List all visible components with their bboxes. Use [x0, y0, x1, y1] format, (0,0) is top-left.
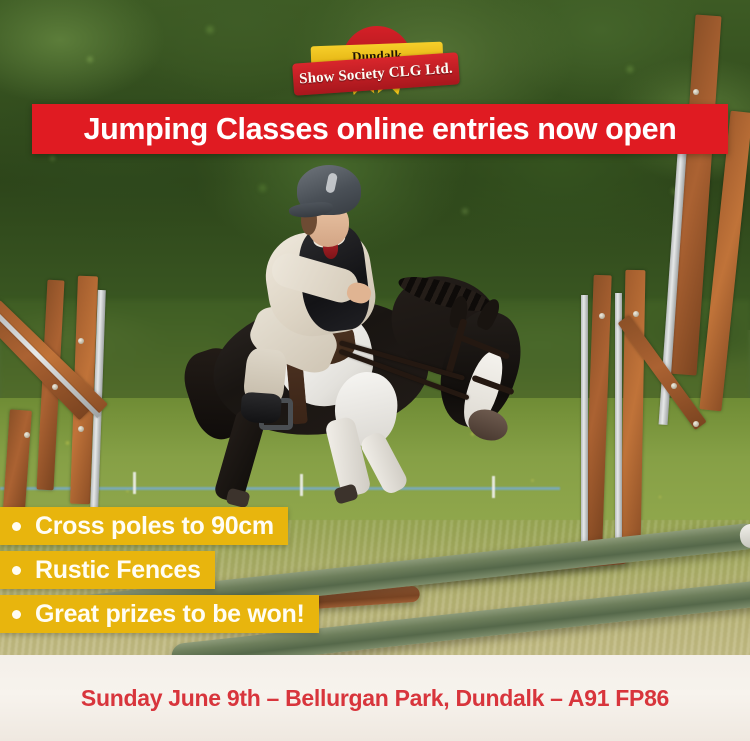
bullet-dot-icon	[12, 610, 21, 619]
headline-text: Jumping Classes online entries now open	[84, 112, 677, 147]
event-poster: Dundalk Show Society CLG Ltd. Jumping Cl…	[0, 0, 750, 741]
pole-cap	[739, 523, 750, 549]
bullet-dot-icon	[12, 566, 21, 575]
bullet-item: Great prizes to be won!	[0, 595, 319, 633]
bullet-item: Cross poles to 90cm	[0, 507, 288, 545]
horse-hoof	[333, 483, 359, 504]
jump-wing-right	[575, 15, 750, 535]
bullet-label: Rustic Fences	[35, 556, 201, 585]
jump-wing-left	[0, 280, 200, 530]
bullet-list: Cross poles to 90cm Rustic Fences Great …	[0, 507, 430, 639]
bullet-item: Rustic Fences	[0, 551, 215, 589]
rider-boot	[240, 392, 282, 425]
footer-bar: Sunday June 9th – Bellurgan Park, Dundal…	[0, 655, 750, 741]
bullet-dot-icon	[12, 522, 21, 531]
dundalk-show-society-logo: Dundalk Show Society CLG Ltd.	[293, 22, 459, 98]
bullet-label: Cross poles to 90cm	[35, 512, 274, 541]
event-details-text: Sunday June 9th – Bellurgan Park, Dundal…	[81, 685, 669, 712]
rider	[235, 165, 395, 415]
horse-hoof	[225, 488, 250, 509]
headline-banner: Jumping Classes online entries now open	[32, 104, 728, 154]
bullet-label: Great prizes to be won!	[35, 600, 305, 629]
